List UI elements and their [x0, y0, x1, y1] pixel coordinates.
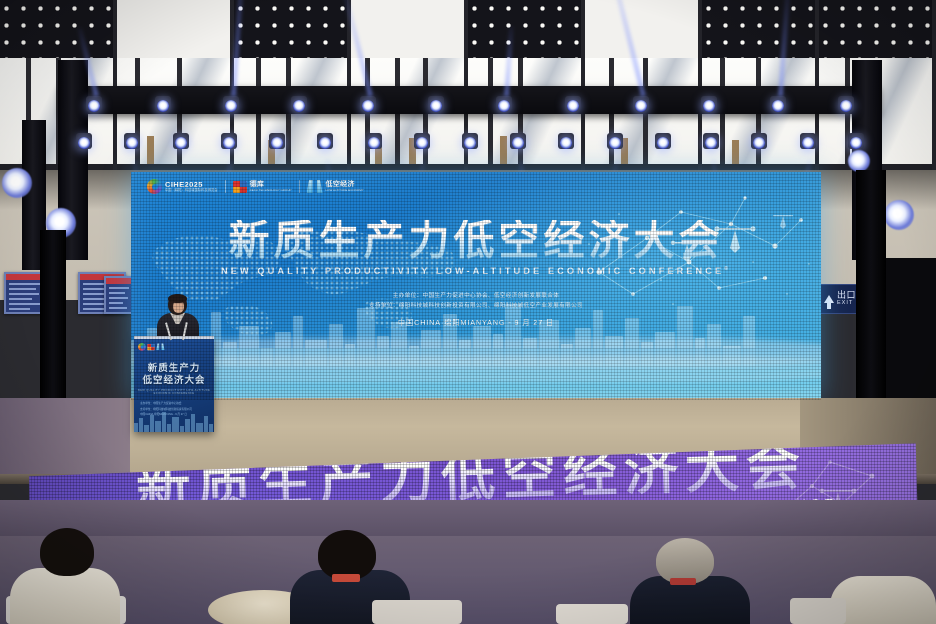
- screen-title-block: 新质生产力低空经济大会 NEW QUALITY PRODUCTIVITY LOW…: [131, 220, 821, 276]
- light-lens: [567, 100, 579, 112]
- audience-left-white-shirt: [10, 528, 120, 624]
- screen-date-location: 中国CHINA·绵阳MIANYANG - 9 月 27 日: [131, 318, 821, 328]
- partner-logo-deku: 德库 DEKU TECHNOLOGY GROUP: [233, 181, 292, 193]
- moving-head-light: [507, 133, 529, 159]
- moving-head-light: [170, 133, 192, 159]
- conference-stage-photo: 出口 EXIT: [0, 0, 936, 624]
- light-lens: [464, 137, 476, 149]
- audience-torso: [10, 568, 120, 624]
- light-lens: [498, 100, 510, 112]
- screen-title-en-wrap: NEW QUALITY PRODUCTIVITY LOW-ALTITUDE EC…: [131, 266, 821, 276]
- podium-title: 新质生产力 低空经济大会: [134, 363, 214, 387]
- trademark-mark: ®: [724, 266, 731, 272]
- stage-floor-left-shadow: [0, 398, 130, 480]
- organizer-line-2: 支持单位：绵阳科技城科技创新投资有限公司、绵阳科技城低空产业发展有限公司: [131, 301, 821, 311]
- light-lens: [157, 100, 169, 112]
- moving-head-light: [652, 133, 674, 159]
- audience-right-grey-hair: [630, 538, 750, 624]
- side-spotlight-right: [884, 200, 914, 230]
- lighting-truss: [60, 86, 880, 114]
- window-lattice-panel: [702, 0, 815, 58]
- main-led-backdrop: CIHE2025 中国（绵阳）科技城国际科技博览会 德库 DEKU TECHNO…: [131, 172, 821, 400]
- light-lens: [753, 137, 765, 149]
- podium-deku-logo-icon: [147, 344, 154, 350]
- cihe-logo: CIHE2025 中国（绵阳）科技城国际科技博览会: [147, 179, 218, 194]
- light-lens: [703, 100, 715, 112]
- window-lattice-panel: [234, 0, 347, 58]
- moving-head-light: [357, 96, 379, 122]
- moving-head-light: [604, 133, 626, 159]
- moving-head-light: [767, 96, 789, 122]
- side-spotlight-left: [2, 168, 32, 198]
- moving-head-light: [835, 96, 857, 122]
- light-lens: [560, 137, 572, 149]
- moving-head-light: [411, 133, 433, 159]
- moving-head-light: [797, 133, 819, 159]
- light-wave-ribbon: [131, 348, 821, 400]
- deku-logo-icon: [233, 181, 247, 193]
- moving-head-light: [748, 133, 770, 159]
- moving-head-light: [562, 96, 584, 122]
- light-lens: [368, 137, 380, 149]
- moving-head-light: [363, 133, 385, 159]
- moving-head-light: [152, 96, 174, 122]
- light-lens: [512, 137, 524, 149]
- podium-skyline-graphic: [134, 410, 214, 432]
- moving-head-light: [121, 133, 143, 159]
- cihe-logo-icon: [147, 179, 162, 194]
- light-lens: [271, 137, 283, 149]
- organizer-line-1: 主办单位：中国生产力促进中心协会、低空经济创新发展联合体: [131, 291, 821, 301]
- audience-chair-right: [556, 604, 628, 624]
- window-solid-panel: [117, 0, 230, 58]
- light-lens: [657, 137, 669, 149]
- partner-logo-low-altitude: 低空经济 LOW ALTITUDE ECONOMY: [307, 180, 364, 193]
- moving-head-light: [700, 133, 722, 159]
- podium-sponsor-logos: [138, 343, 165, 351]
- low-altitude-logo-text: 低空经济: [326, 181, 364, 188]
- moving-head-light: [425, 96, 447, 122]
- moving-head-light: [493, 96, 515, 122]
- audience-chair-far-right: [790, 598, 846, 624]
- moving-head-light: [555, 133, 577, 159]
- podium-title-line-2: 低空经济大会: [142, 375, 205, 386]
- window-solid-panel: [351, 0, 464, 58]
- low-altitude-logo-icon: [307, 180, 323, 193]
- audience-tie: [332, 574, 360, 582]
- audience-head: [318, 530, 376, 580]
- wall-pillar-right: [856, 170, 886, 420]
- moving-head-light: [630, 96, 652, 122]
- moving-head-light: [220, 96, 242, 122]
- moving-head-light: [314, 133, 336, 159]
- light-lens: [802, 137, 814, 149]
- up-arrow-icon: [824, 295, 834, 303]
- moving-head-light: [73, 133, 95, 159]
- moving-head-light: [459, 133, 481, 159]
- light-lens: [78, 137, 90, 149]
- moving-head-light: [266, 133, 288, 159]
- audience-collar-accent: [670, 578, 696, 585]
- deku-logo-text: 德库: [250, 181, 292, 188]
- moving-head-light: [698, 96, 720, 122]
- screen-title-en: NEW QUALITY PRODUCTIVITY LOW-ALTITUDE EC…: [221, 266, 724, 276]
- deku-logo-subtext: DEKU TECHNOLOGY GROUP: [250, 189, 292, 192]
- light-lens: [609, 137, 621, 149]
- low-altitude-logo-subtext: LOW ALTITUDE ECONOMY: [326, 189, 364, 192]
- window-lattice-panel: [468, 0, 581, 58]
- light-lens: [416, 137, 428, 149]
- podium-subtitle-en: NEW QUALITY PRODUCTIVITY LOW-ALTITUDE EC…: [134, 389, 214, 395]
- moving-head-light: [83, 96, 105, 122]
- light-lens: [430, 100, 442, 112]
- light-lens: [850, 137, 862, 149]
- audience-head: [40, 528, 94, 576]
- light-lens: [175, 137, 187, 149]
- light-lens: [126, 137, 138, 149]
- window-lattice-panel: [819, 0, 932, 58]
- wall-dark-right: [886, 258, 936, 420]
- logo-divider: [225, 180, 226, 193]
- light-lens: [362, 100, 374, 112]
- logo-divider: [299, 180, 300, 193]
- light-lens: [772, 100, 784, 112]
- exit-sign-label-en: EXIT: [837, 301, 856, 307]
- speaker-podium: 新质生产力 低空经济大会 NEW QUALITY PRODUCTIVITY LO…: [134, 336, 214, 432]
- light-lens: [840, 100, 852, 112]
- light-lens: [293, 100, 305, 112]
- window-solid-panel: [585, 0, 698, 58]
- podium-cihe-logo-icon: [138, 343, 146, 351]
- screen-title-cn: 新质生产力低空经济大会: [131, 220, 821, 261]
- podium-title-line-1: 新质生产力: [148, 363, 201, 374]
- light-lens: [225, 100, 237, 112]
- light-lens: [223, 137, 235, 149]
- window-lattice-panel: [0, 0, 113, 58]
- light-lens: [705, 137, 717, 149]
- screen-organizer-block: 主办单位：中国生产力促进中心协会、低空经济创新发展联合体 支持单位：绵阳科技城科…: [131, 291, 821, 312]
- moving-head-light: [218, 133, 240, 159]
- wall-pillar-left: [40, 230, 66, 416]
- side-spotlight-right-2: [848, 150, 870, 172]
- light-lens: [319, 137, 331, 149]
- light-lens: [88, 100, 100, 112]
- light-lens: [635, 100, 647, 112]
- audience-chair-center: [372, 600, 462, 624]
- cihe-logo-subtext: 中国（绵阳）科技城国际科技博览会: [165, 189, 218, 192]
- screen-sponsor-logos: CIHE2025 中国（绵阳）科技城国际科技博览会 德库 DEKU TECHNO…: [147, 179, 364, 194]
- podium-low-altitude-logo-icon: [156, 344, 164, 351]
- moving-head-light: [288, 96, 310, 122]
